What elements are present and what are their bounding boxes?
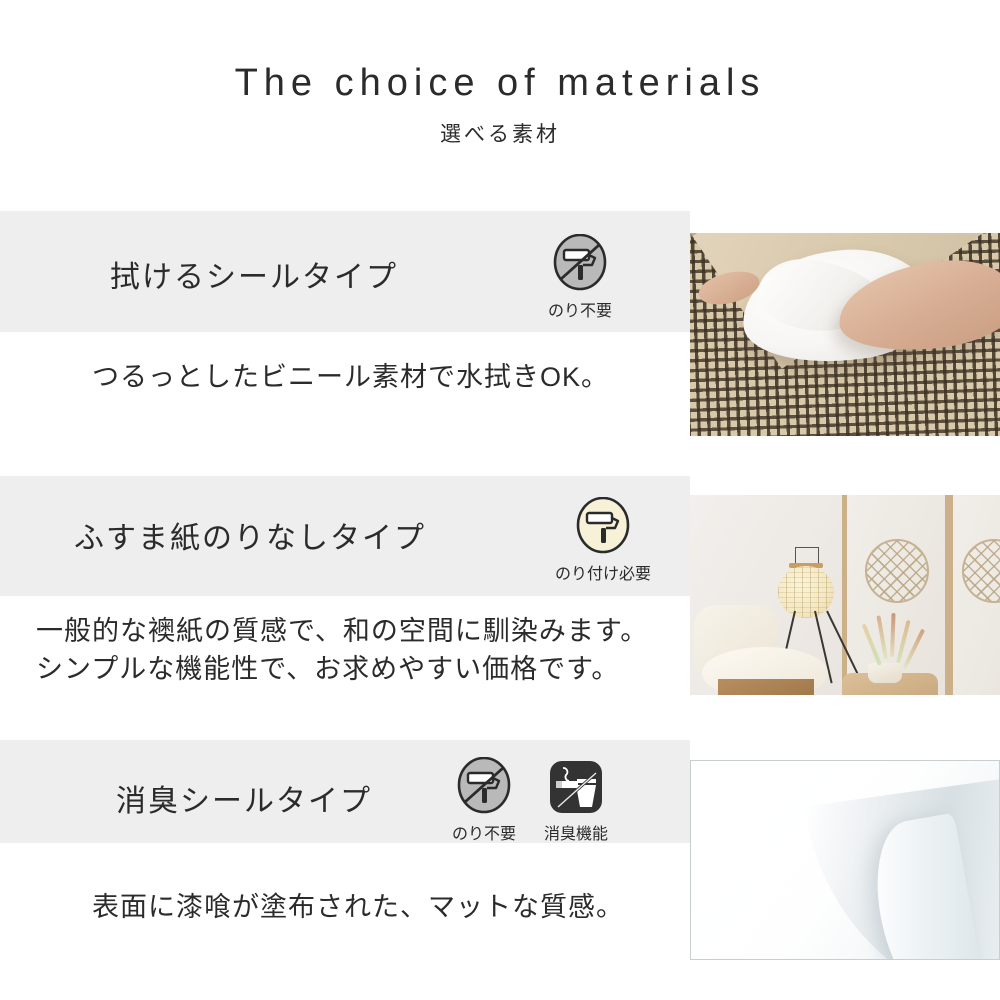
no-glue-roller-icon (550, 234, 610, 294)
plant-pot (868, 663, 902, 683)
no-glue-roller-icon (454, 757, 514, 817)
badge-label: のり不要 (452, 820, 516, 844)
description-line: シンプルな機能性で、お求めやすい価格です。 (36, 650, 648, 688)
description-line: 一般的な襖紙の質感で、和の空間に馴染みます。 (36, 612, 648, 650)
lamp-handle (795, 547, 819, 564)
section-description: 表面に漆喰が塗布された、マットな質感。 (92, 888, 624, 926)
photo-japanese-interior (690, 495, 1000, 695)
page-header: The choice of materials 選べる素材 (0, 0, 1000, 200)
section-title: 拭けるシールタイプ (110, 252, 398, 296)
description-line: つるっとしたビニール素材で水拭きOK。 (92, 358, 609, 396)
deodorize-function-icon (546, 757, 606, 817)
armchair-base (718, 679, 814, 695)
section-title: ふすま紙のりなしタイプ (74, 513, 426, 557)
section-badges: のり不要 (543, 234, 617, 321)
badge-label: のり付け必要 (555, 560, 651, 584)
lamp-shade (778, 566, 834, 618)
page-root: The choice of materials 選べる素材 拭けるシールタイプ … (0, 0, 1000, 1000)
photo-white-matte-sheet (690, 760, 1000, 960)
photo-wiping-cane-surface (690, 233, 1000, 436)
badge-no-glue: のり不要 (543, 234, 617, 321)
glue-required-roller-icon (573, 497, 633, 557)
badge-glue-required: のり付け必要 (543, 497, 663, 584)
section-description: 一般的な襖紙の質感で、和の空間に馴染みます。 シンプルな機能性で、お求めやすい価… (36, 612, 648, 689)
description-line: 表面に漆喰が塗布された、マットな質感。 (92, 888, 624, 926)
page-subtitle: 選べる素材 (0, 118, 1000, 148)
badge-label: のり不要 (548, 297, 612, 321)
section-badges: のり付け必要 (543, 497, 663, 584)
page-title: The choice of materials (0, 62, 1000, 105)
kumiko-circle-1 (865, 539, 929, 603)
section-description: つるっとしたビニール素材で水拭きOK。 (92, 358, 609, 396)
badge-label: 消臭機能 (544, 820, 608, 844)
lamp-ribs (778, 566, 834, 618)
badge-deodorize: 消臭機能 (539, 757, 613, 844)
badge-no-glue: のり不要 (447, 757, 521, 844)
section-badges: のり不要 消臭機能 (447, 757, 613, 844)
section-title: 消臭シールタイプ (116, 776, 372, 820)
